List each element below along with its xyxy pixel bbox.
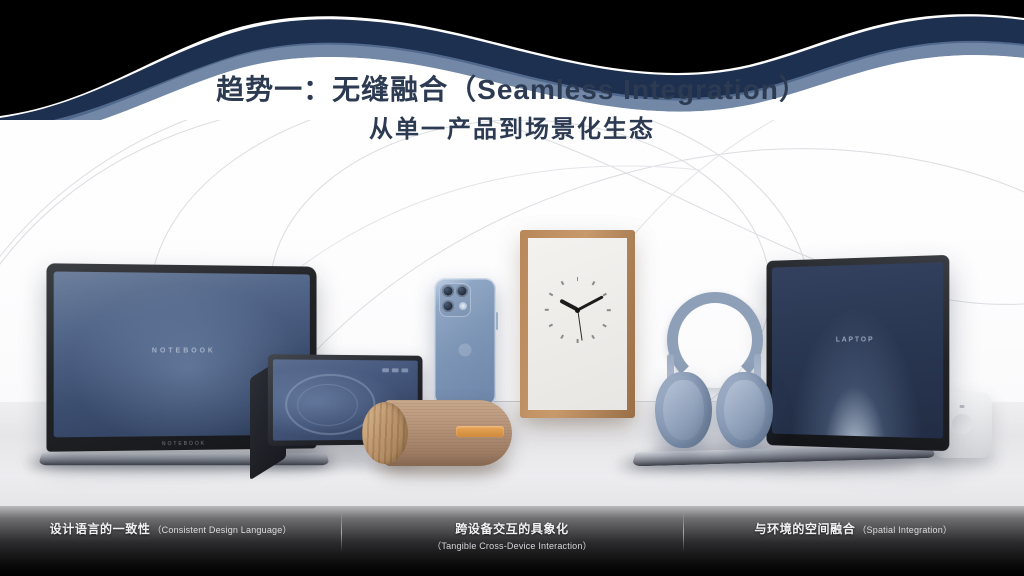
phone-body xyxy=(434,278,496,406)
caption-row: 设计语言的一致性 （Consistent Design Language） 跨设… xyxy=(0,506,1024,576)
headphones-earcup-left xyxy=(655,372,712,448)
presentation-slide: NOTEBOOK NOTEBOOK TABLET xyxy=(0,0,1024,576)
headphones-earpad xyxy=(663,380,704,441)
caption-item-consistent-design-language[interactable]: 设计语言的一致性 （Consistent Design Language） xyxy=(0,506,341,537)
camera-lens-icon xyxy=(442,300,454,312)
laptop-right-lid: LAPTOP xyxy=(767,255,950,451)
caption-cn-label: 跨设备交互的具象化 xyxy=(455,520,568,537)
slide-title: 趋势一：无缝融合（Seamless Integration） xyxy=(0,72,1024,108)
phone-back-logo xyxy=(459,343,472,356)
speaker-wood-cap xyxy=(362,402,408,464)
title-block: 趋势一：无缝融合（Seamless Integration） 从单一产品到场景化… xyxy=(0,72,1024,146)
clock-face xyxy=(541,273,615,347)
speaker-accent-strip xyxy=(456,426,504,437)
laptop-right-screen: LAPTOP xyxy=(772,262,943,438)
tablet-status-icons xyxy=(382,368,408,372)
caption-en-label: （Spatial Integration） xyxy=(857,523,952,536)
phone-camera-module xyxy=(439,283,471,317)
tablet-wallpaper-arc-inner xyxy=(297,384,358,426)
caption-bar: 设计语言的一致性 （Consistent Design Language） 跨设… xyxy=(0,506,1024,576)
device-smartphone[interactable] xyxy=(434,278,496,406)
caption-cn-label: 设计语言的一致性 xyxy=(50,520,151,537)
clock-center-pin xyxy=(575,308,580,313)
camera-lens-icon xyxy=(456,285,468,297)
laptop-left-chin-label: NOTEBOOK xyxy=(162,441,206,448)
laptop-left-screen-logo: NOTEBOOK xyxy=(152,348,216,355)
caption-cn-label: 与环境的空间融合 xyxy=(755,520,856,537)
headphones-earpad xyxy=(724,380,765,441)
device-headphones[interactable] xyxy=(655,292,773,452)
clock-mat xyxy=(528,238,627,410)
laptop-right-screen-logo: LAPTOP xyxy=(836,337,875,344)
headphones-earcup-right xyxy=(716,372,773,448)
device-portable-speaker[interactable] xyxy=(362,400,512,472)
caption-item-spatial-integration[interactable]: 与环境的空间融合 （Spatial Integration） xyxy=(683,506,1024,537)
device-framed-clock[interactable] xyxy=(520,230,635,418)
caption-en-label: （Tangible Cross-Device Interaction） xyxy=(432,539,592,552)
caption-item-tangible-cross-device-interaction[interactable]: 跨设备交互的具象化 （Tangible Cross-Device Interac… xyxy=(341,506,682,552)
device-laptop-right[interactable]: LAPTOP xyxy=(760,258,975,470)
clock-frame xyxy=(520,230,635,418)
camera-lens-icon xyxy=(442,285,454,297)
phone-side-button[interactable] xyxy=(496,312,498,330)
camera-flash-icon xyxy=(459,302,467,310)
caption-en-label: （Consistent Design Language） xyxy=(152,523,291,536)
slide-subtitle: 从单一产品到场景化生态 xyxy=(0,114,1024,146)
